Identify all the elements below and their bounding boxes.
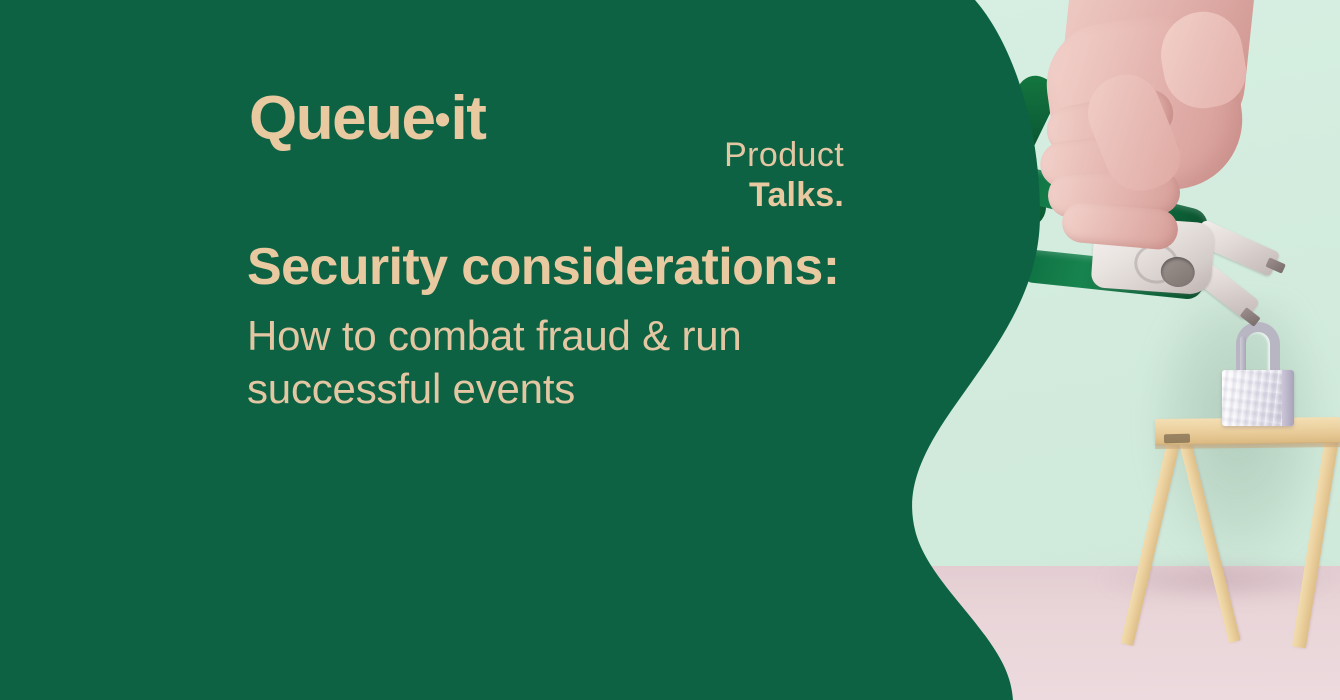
logo-word-queue: Queue [249,84,434,153]
text-layer: Queue•it Product Talks. Security conside… [0,0,1340,700]
logo-word-it: it [451,84,486,153]
series-label-product: Product [657,138,844,172]
logo-dot-icon: • [434,93,450,145]
page-subtitle: How to combat fraud & run successful eve… [247,310,867,416]
series-label-talks: Talks. [657,178,844,212]
queue-it-logo[interactable]: Queue•it [249,88,485,150]
page-title: Security considerations: [247,240,839,295]
series-badge: Product Talks. [657,138,844,212]
promo-banner: Queue•it Product Talks. Security conside… [0,0,1340,700]
